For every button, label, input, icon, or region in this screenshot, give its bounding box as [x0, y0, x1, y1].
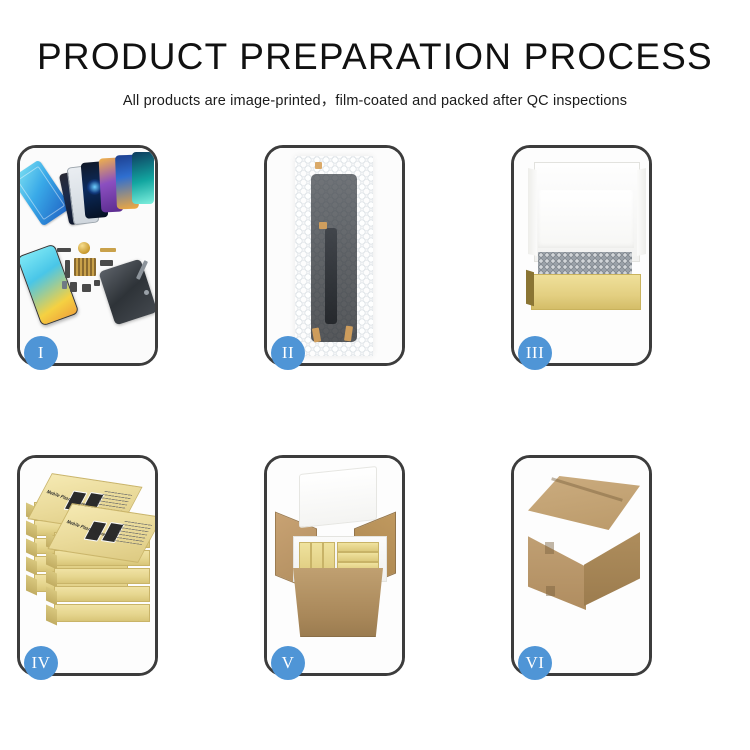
step-badge-1: I	[24, 336, 58, 370]
phone-teal-wave	[132, 152, 154, 204]
step-badge-2: II	[271, 336, 305, 370]
box-stack-scene: Mobile Phone Spare Parts Mobile Phone Sp…	[20, 458, 155, 673]
step-badge-6: VI	[518, 646, 552, 680]
inner-box-h2	[337, 552, 379, 562]
spare-part-flex-gold	[100, 248, 116, 252]
process-step-card-4[interactable]: Mobile Phone Spare Parts Mobile Phone Sp…	[17, 455, 158, 676]
flex-cable	[325, 228, 337, 324]
spare-part-chip-c	[94, 280, 100, 286]
bubble-wrap-pouch	[295, 156, 373, 356]
process-step-card-1[interactable]: I	[17, 145, 158, 366]
page-title: PRODUCT PREPARATION PROCESS	[0, 38, 750, 77]
spare-part-chip-b	[82, 284, 91, 292]
inner-box-h1	[337, 542, 379, 552]
stacked-box-f3	[54, 568, 150, 584]
screw-part	[144, 290, 149, 295]
process-step-card-5[interactable]: V	[264, 455, 405, 676]
process-step-card-3[interactable]: III	[511, 145, 652, 366]
carton-body	[293, 568, 383, 637]
spare-part-chip-a	[70, 282, 77, 292]
step-badge-4: IV	[24, 646, 58, 680]
camera-lens-part	[78, 242, 90, 254]
spare-part-bar	[57, 248, 71, 252]
foam-box-lid	[299, 466, 377, 528]
carton-loading-scene	[267, 458, 402, 673]
carton-side-face	[584, 520, 640, 606]
spare-part-chip-d	[62, 281, 67, 289]
spare-part-mesh	[74, 258, 96, 276]
stacked-box-f5	[54, 604, 150, 622]
step-5-image	[267, 458, 402, 673]
step-6-image	[514, 458, 649, 673]
inner-box-scene	[514, 148, 649, 363]
step-2-image	[267, 148, 402, 363]
page-header: PRODUCT PREPARATION PROCESS All products…	[0, 0, 750, 110]
step-badge-5: V	[271, 646, 305, 680]
foam-liner	[538, 190, 634, 248]
step-badge-3: III	[518, 336, 552, 370]
process-step-card-2[interactable]: II	[264, 145, 405, 366]
step-4-image: Mobile Phone Spare Parts Mobile Phone Sp…	[20, 458, 155, 673]
tape-piece-top	[315, 162, 322, 169]
step-1-image	[20, 148, 155, 363]
bubble-wrap-scene	[267, 148, 402, 363]
carton-front-face	[528, 520, 586, 610]
process-step-card-6[interactable]: VI	[511, 455, 652, 676]
process-step-grid: I II	[17, 145, 733, 676]
step-3-image	[514, 148, 649, 363]
kraft-box-tray	[531, 274, 641, 310]
page-subtitle: All products are image-printed，film-coat…	[0, 89, 750, 110]
spare-part-strip-b	[100, 260, 113, 266]
phone-parts-scene	[20, 148, 155, 363]
carton-flap-mark-bottom	[546, 586, 555, 596]
carton-top-face	[528, 476, 640, 530]
tape-piece-mid	[319, 222, 327, 229]
stacked-box-f4	[54, 586, 150, 602]
spare-part-strip-a	[65, 260, 70, 278]
sealed-carton-scene	[514, 458, 649, 673]
carton-flap-mark-top	[545, 542, 554, 554]
